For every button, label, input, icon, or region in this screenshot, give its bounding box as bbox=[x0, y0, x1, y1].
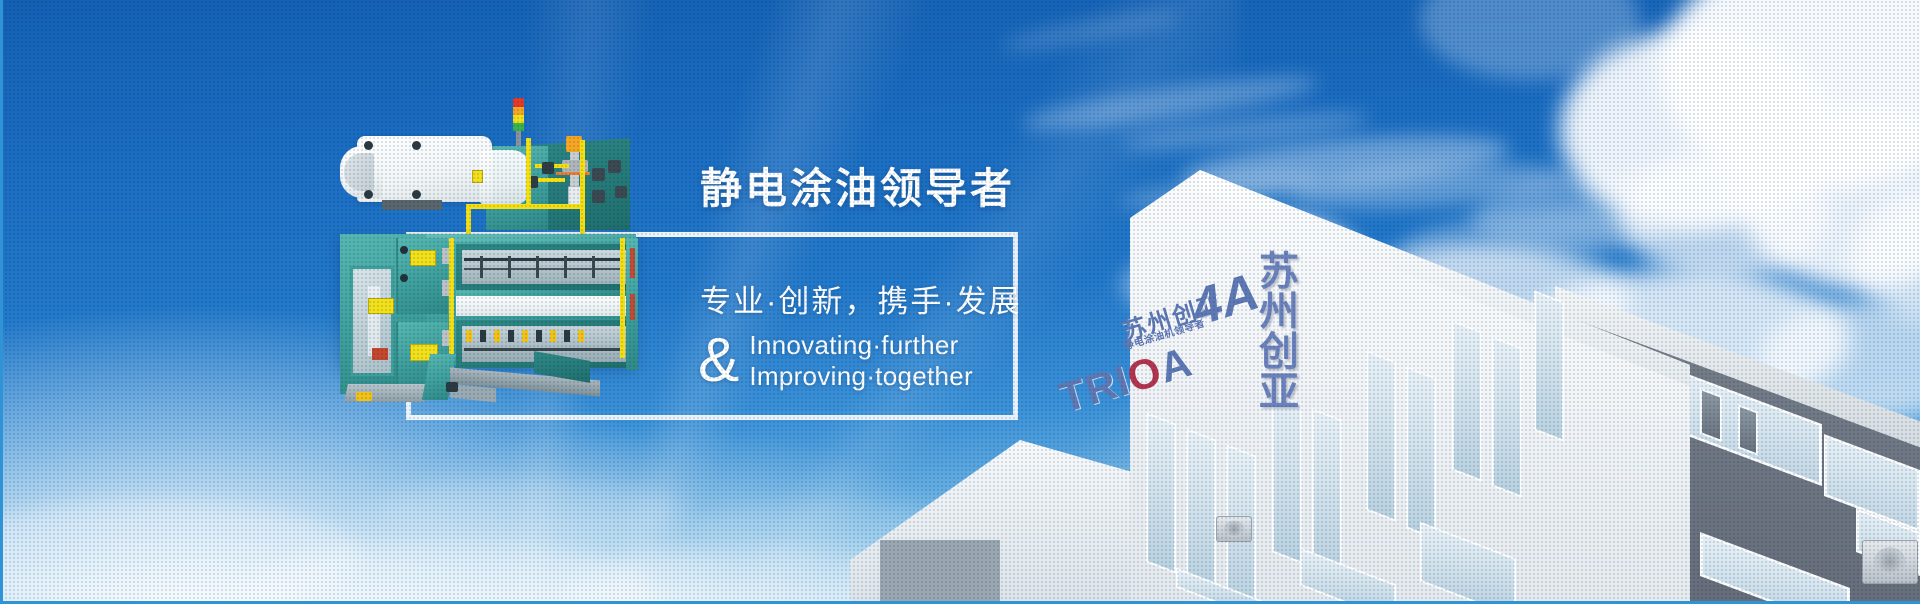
english-slogan-line-2: Improving·together bbox=[749, 361, 973, 392]
small-ac-unit bbox=[1216, 516, 1252, 542]
ampersand-glyph: & bbox=[698, 330, 739, 392]
brand-latin-pre: TRI bbox=[1054, 356, 1135, 421]
wall-vertical-sign: 苏州创亚 bbox=[1248, 250, 1302, 410]
banner-subline: 专业·创新，携手·发展 bbox=[700, 276, 1022, 321]
banner-headline: 静电涂油领导者 bbox=[700, 155, 1015, 216]
english-slogan-line-1: Innovating·further bbox=[749, 330, 973, 361]
left-edge-accent bbox=[0, 0, 3, 604]
building-wing-opening bbox=[880, 540, 1000, 604]
banner-english-slogan: & Innovating·further Improving·together bbox=[698, 330, 973, 392]
air-conditioner-unit bbox=[1862, 540, 1918, 584]
product-image-electrostatic-oiling-machine bbox=[330, 98, 690, 388]
hero-banner: TRIOA 苏州创亚 静电涂油机领导者 4A 苏州创亚 bbox=[0, 0, 1920, 604]
